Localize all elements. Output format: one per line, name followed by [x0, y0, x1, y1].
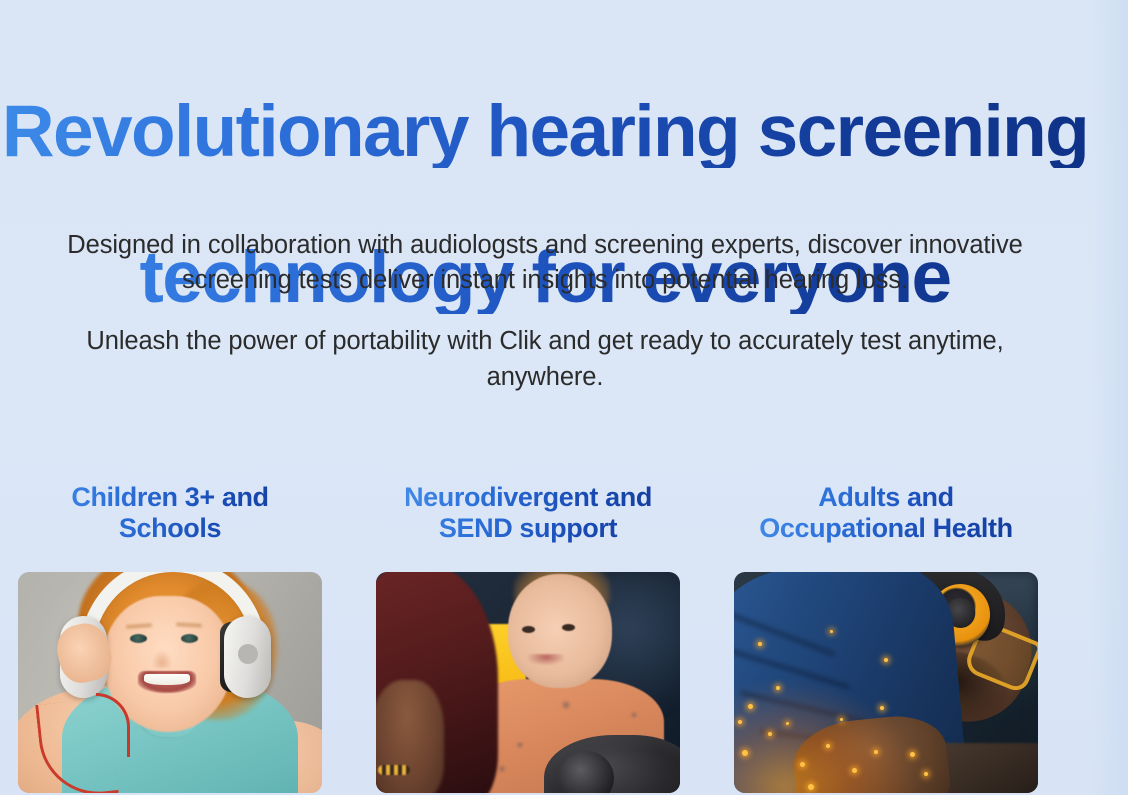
child-nose — [152, 650, 172, 668]
child-headphones-photo — [18, 572, 322, 793]
card-title-children: Children 3+ and Schools — [18, 482, 322, 545]
page-edge-gradient — [1090, 0, 1128, 795]
page-title-line-1: Revolutionary hearing screening — [0, 95, 1090, 168]
hero-description: Designed in collaboration with audiologs… — [0, 228, 1090, 395]
worker-occupational-photo — [734, 572, 1038, 793]
adult-bracelet — [378, 765, 410, 775]
sparks-group — [734, 572, 1038, 793]
child-eye-left — [130, 634, 147, 643]
hero-paragraph-2: Unleash the power of portability with Cl… — [25, 324, 1065, 394]
child-eye-right — [181, 634, 198, 643]
toddler-mouth — [528, 654, 564, 665]
audience-card-neurodivergent[interactable]: Neurodivergent and SEND support — [376, 482, 680, 793]
audience-card-adults[interactable]: Adults and Occupational Health — [734, 482, 1038, 793]
card-title-adults: Adults and Occupational Health — [734, 482, 1038, 545]
toddler-send-photo — [376, 572, 680, 793]
headphone-cup-right — [224, 616, 271, 698]
hero-paragraph-1: Designed in collaboration with audiologs… — [25, 228, 1065, 298]
adult-hand — [376, 680, 444, 793]
audience-cards: Children 3+ and Schools — [18, 482, 1034, 793]
hero-page: Revolutionary hearing screening technolo… — [0, 0, 1128, 795]
child-teeth — [144, 674, 190, 685]
audience-card-children[interactable]: Children 3+ and Schools — [18, 482, 322, 793]
toddler-eye-left — [522, 626, 535, 633]
toddler-eye-right — [562, 624, 575, 631]
card-title-neurodivergent: Neurodivergent and SEND support — [376, 482, 680, 545]
